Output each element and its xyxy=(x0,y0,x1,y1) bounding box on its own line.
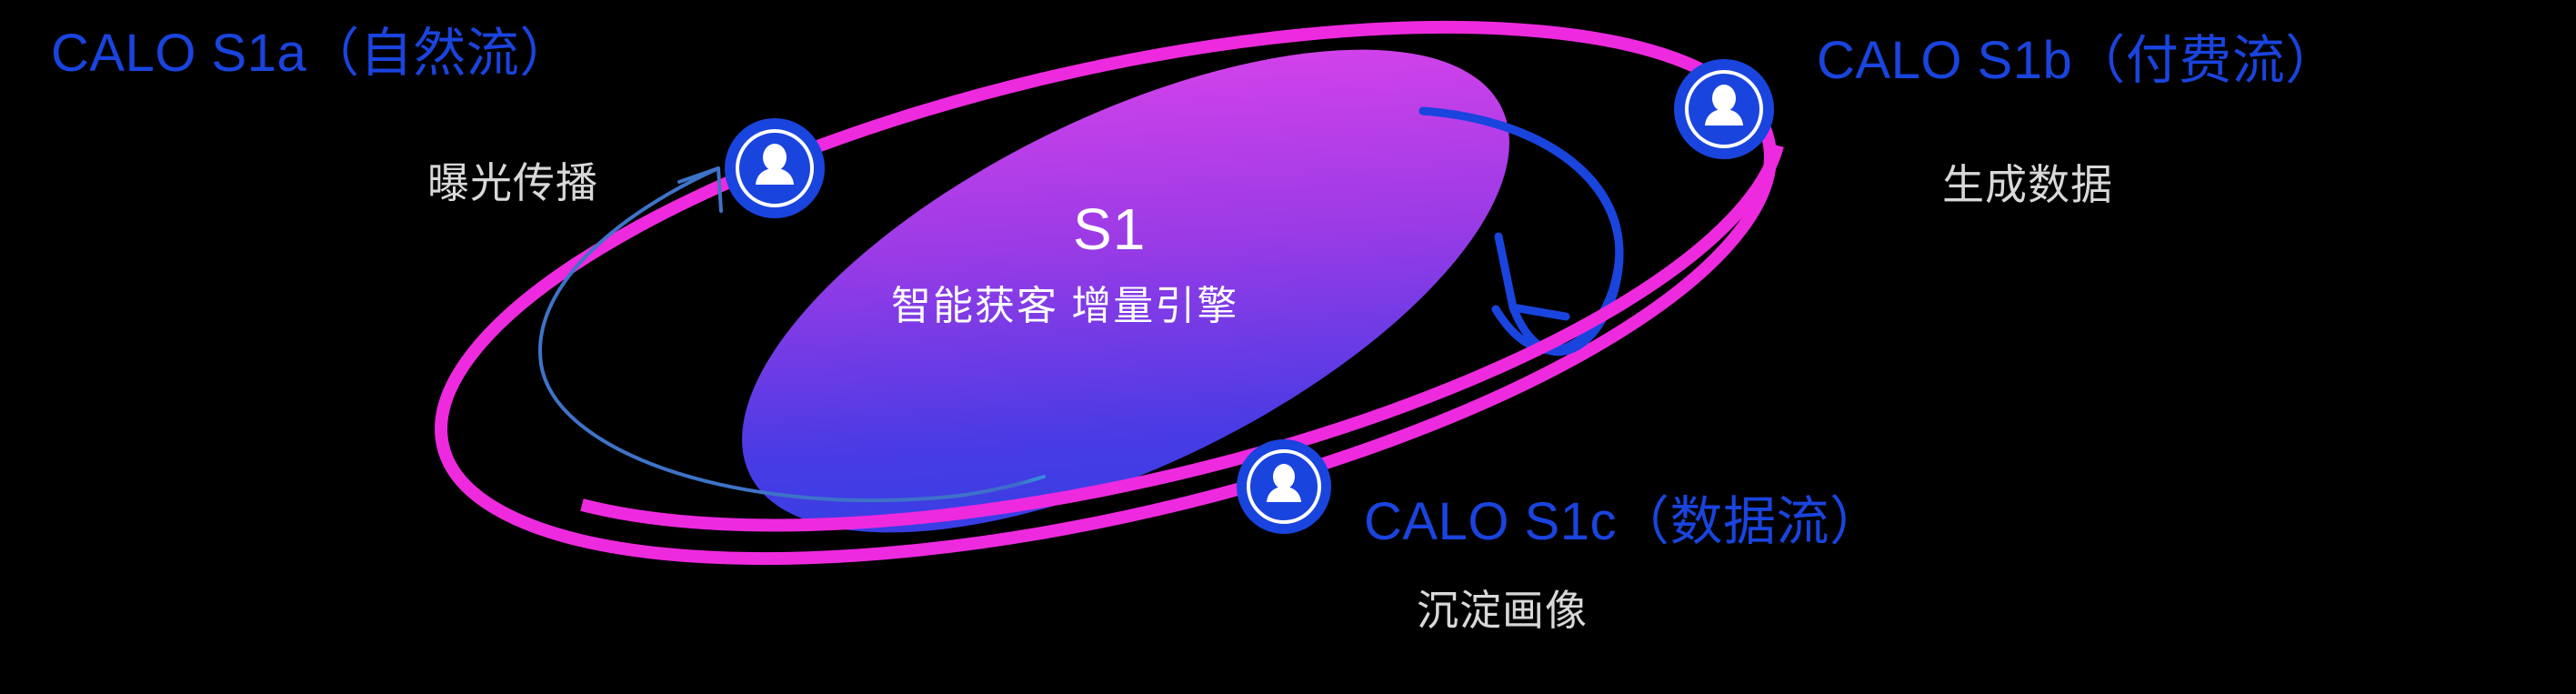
core-title: S1 xyxy=(1073,200,1146,258)
flow-title-s1b: CALO S1b（付费流） xyxy=(1817,35,2339,87)
flow-subtitle-s1c: 沉淀画像 xyxy=(1417,589,1588,631)
core-subtitle: 智能获客 增量引擎 xyxy=(891,287,1238,327)
orbit-diagram xyxy=(0,0,2576,694)
flow-title-s1a: CALO S1a（自然流） xyxy=(51,27,573,80)
flow-subtitle-s1b: 生成数据 xyxy=(1942,164,2113,206)
diagram-canvas: S1 智能获客 增量引擎 CALO S1a（自然流） 曝光传播 CALO S1b… xyxy=(0,0,2576,694)
node-s1a[interactable] xyxy=(725,118,825,218)
node-s1b[interactable] xyxy=(1674,59,1774,159)
flow-title-s1c: CALO S1c（数据流） xyxy=(1364,496,1883,548)
node-s1c[interactable] xyxy=(1237,439,1331,534)
flow-subtitle-s1a: 曝光传播 xyxy=(427,162,598,204)
